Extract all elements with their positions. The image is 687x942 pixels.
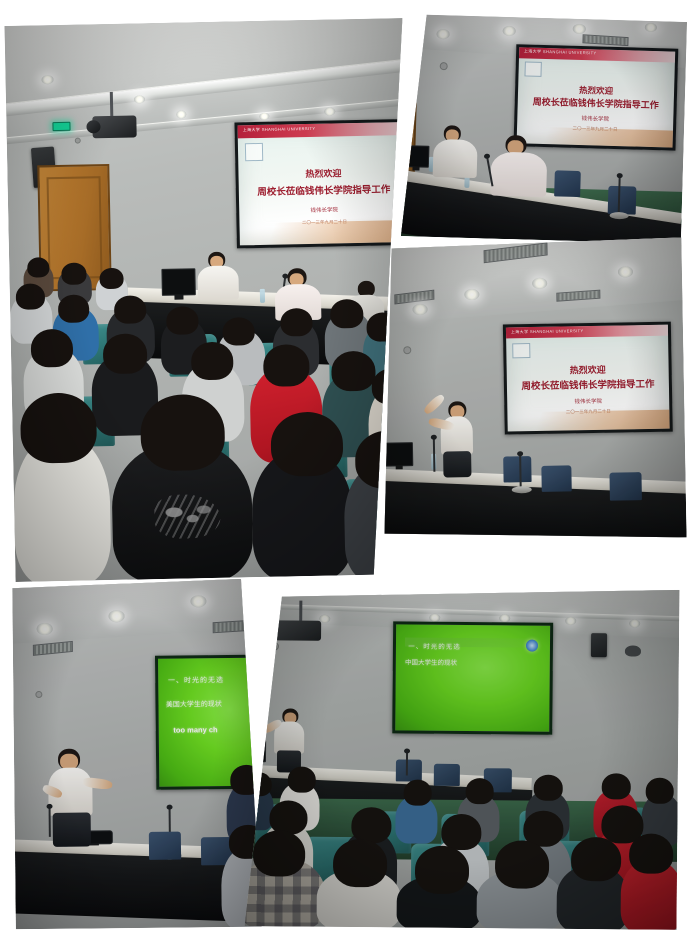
- photo-vignette: [401, 14, 687, 244]
- photo-head-table-two-speakers[interactable]: 上海大学 SHANGHAI UNIVERSITY 热烈欢迎 周校长莅临钱伟长学院…: [401, 14, 687, 244]
- scene-full-hall: 一、时光的无选 中国大学生的现状: [245, 586, 680, 930]
- photo-vignette: [4, 18, 413, 582]
- photo-lecturer-green-slide[interactable]: 一、时光的无选 美国大学生的现状 too many ch: [12, 579, 262, 930]
- photo-vignette: [12, 579, 262, 930]
- photo-vignette: [379, 237, 686, 542]
- photo-speaker-gesturing[interactable]: 上海大学 SHANGHAI UNIVERSITY 热烈欢迎 周校长莅临钱伟长学院…: [379, 237, 686, 542]
- photo-collage: 上海大学 SHANGHAI UNIVERSITY 热烈欢迎 周校长莅临钱伟长学院…: [0, 0, 687, 942]
- scene-lecturer-green-slide: 一、时光的无选 美国大学生的现状 too many ch: [12, 579, 262, 930]
- downlight: [245, 616, 255, 624]
- scene-head-table: 上海大学 SHANGHAI UNIVERSITY 热烈欢迎 周校长莅临钱伟长学院…: [401, 14, 687, 244]
- photo-full-hall-green-slide[interactable]: 一、时光的无选 中国大学生的现状: [245, 586, 680, 930]
- photo-main-audience-hall[interactable]: 上海大学 SHANGHAI UNIVERSITY 热烈欢迎 周校长莅临钱伟长学院…: [4, 18, 413, 582]
- photo-vignette: [245, 586, 680, 930]
- scene-main-audience-hall: 上海大学 SHANGHAI UNIVERSITY 热烈欢迎 周校长莅临钱伟长学院…: [4, 18, 413, 582]
- scene-speaker-gesturing: 上海大学 SHANGHAI UNIVERSITY 热烈欢迎 周校长莅临钱伟长学院…: [379, 237, 686, 542]
